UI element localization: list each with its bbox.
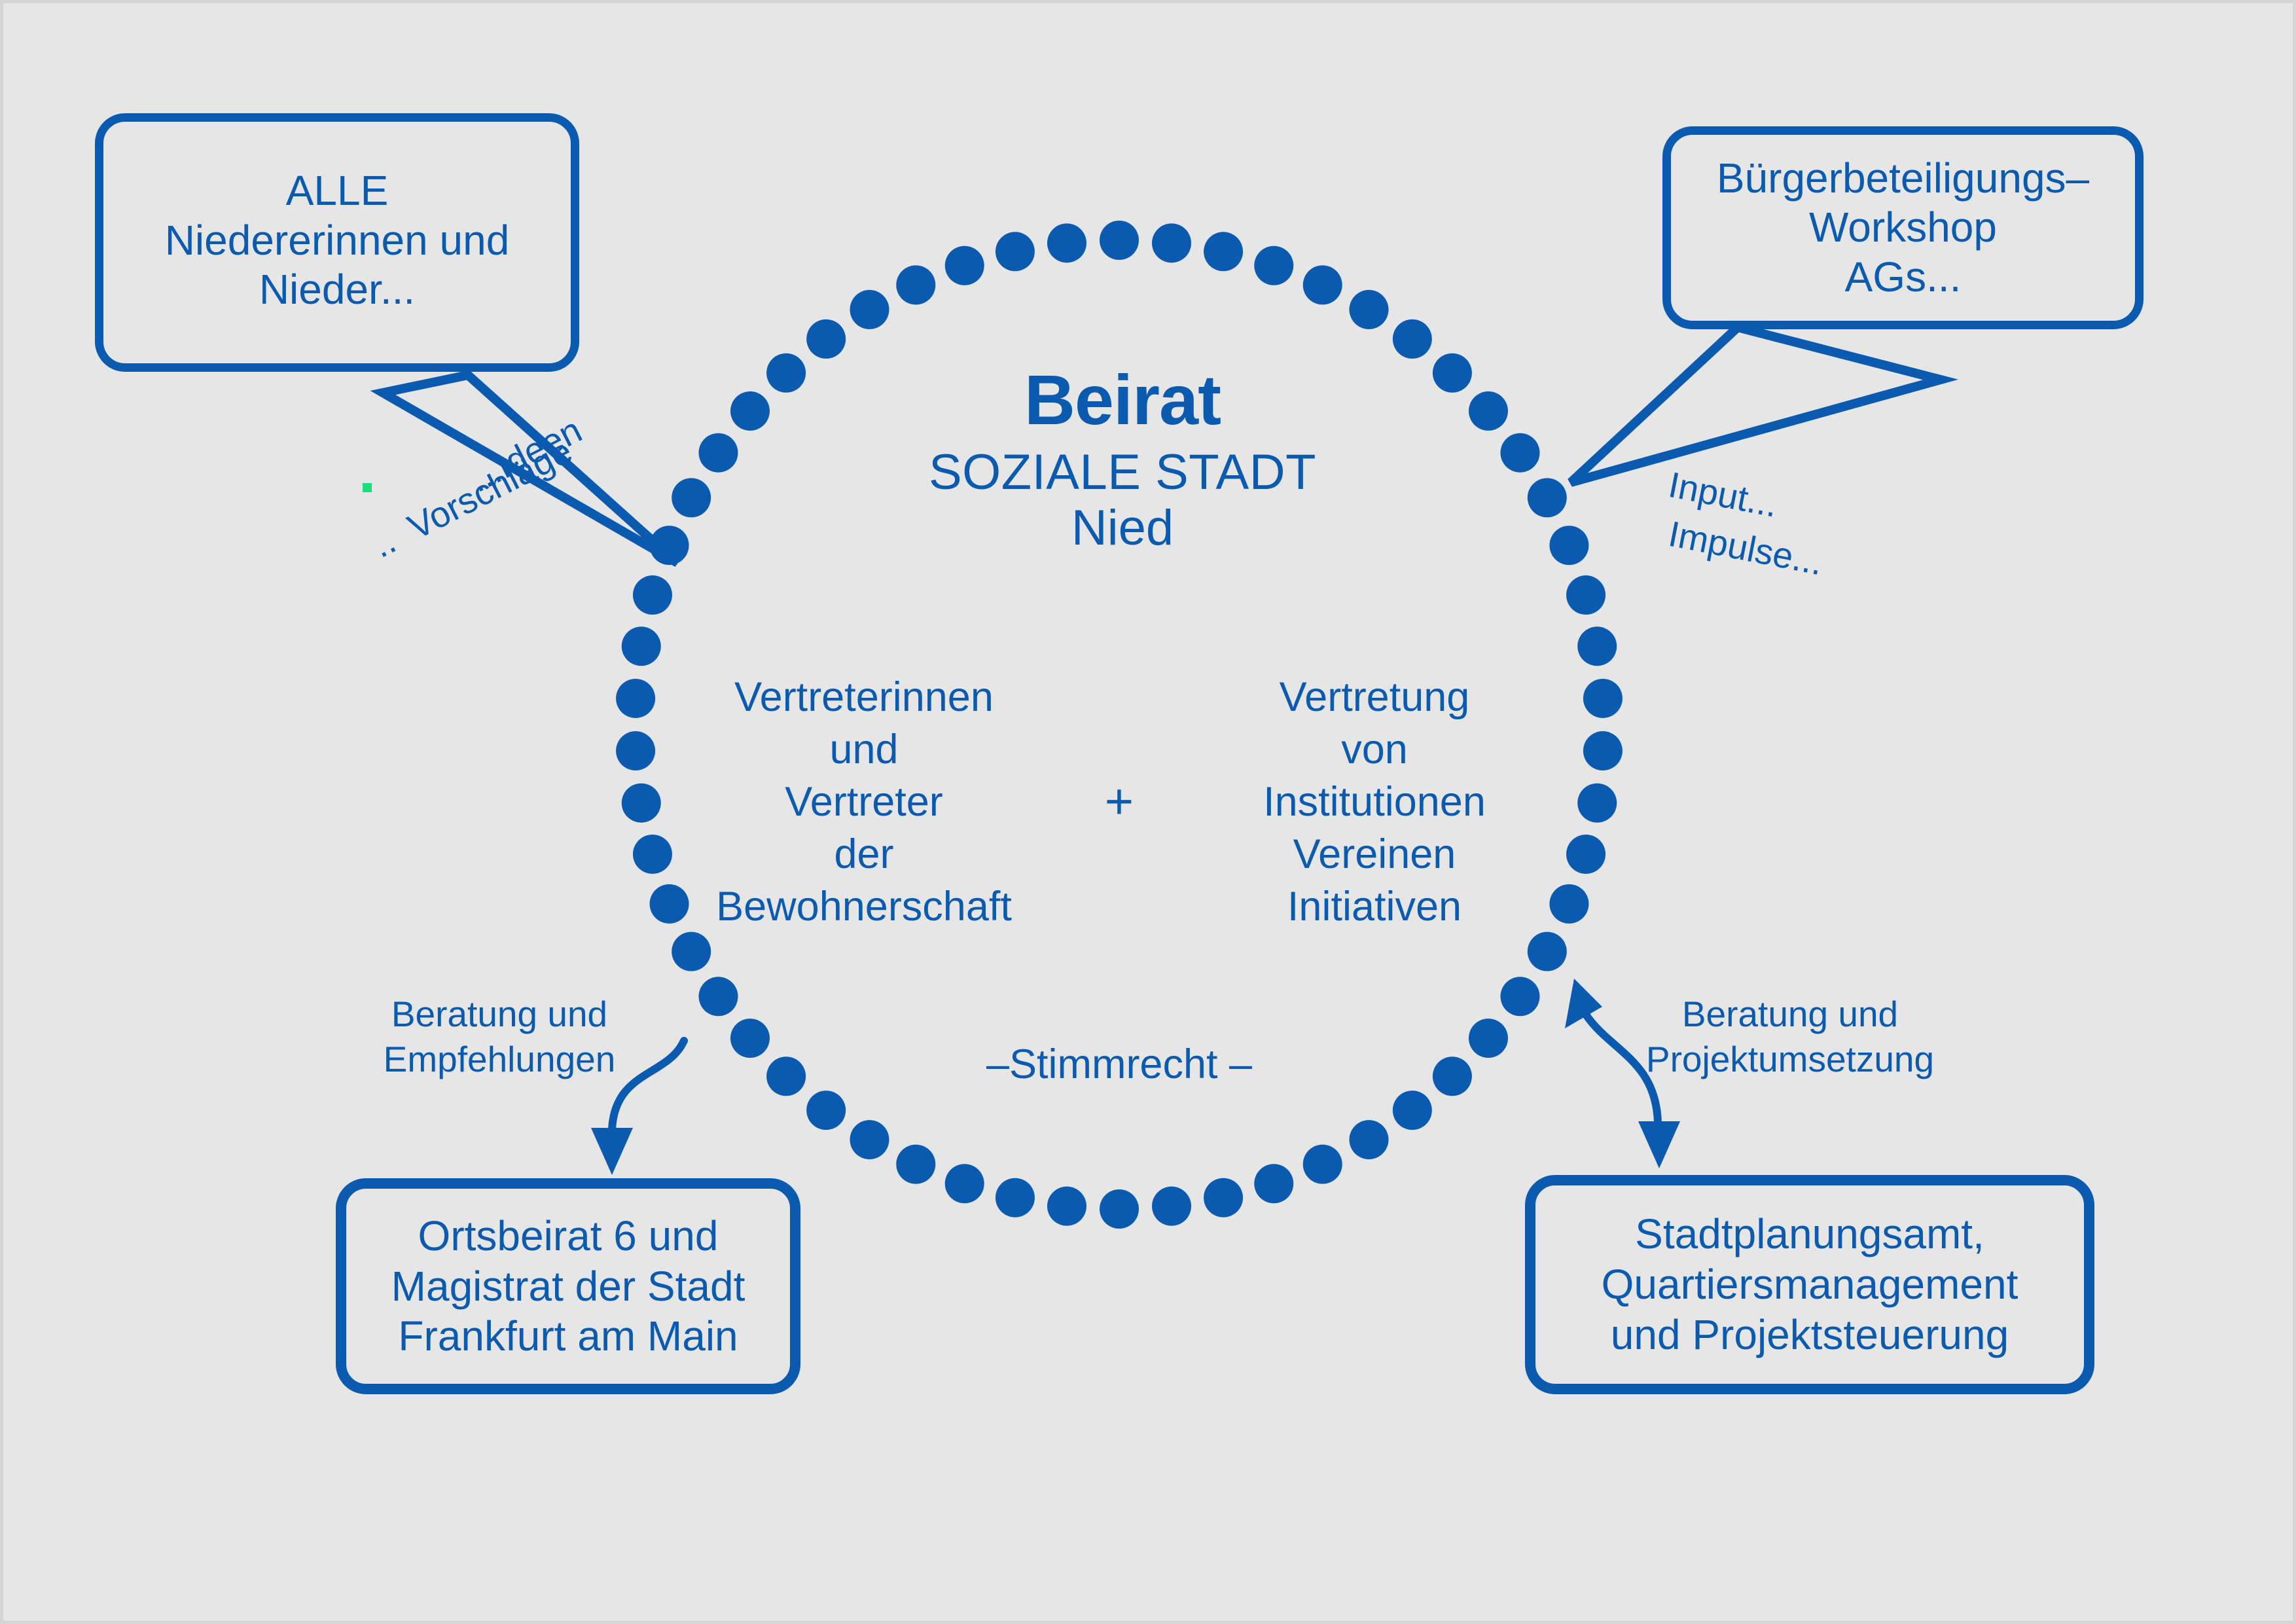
- center-subtitle-line1: SOZIALE STADT: [766, 444, 1479, 500]
- ring-dot: [699, 977, 738, 1016]
- ring-dot: [1583, 679, 1623, 718]
- ring-dot: [996, 232, 1035, 271]
- bubble-right-line3: AGs...: [1717, 253, 2089, 302]
- box-stadtplanungsamt[interactable]: Stadtplanungsamt, Quartiersmanagement un…: [1525, 1175, 2094, 1394]
- label-beratung-projektumsetzung: Beratung und Projektumsetzung: [1633, 992, 1947, 1083]
- label-beratung-empfehlungen-line2: Empfehlungen: [362, 1037, 637, 1082]
- column-residents: Vertreterinnen und Vertreter der Bewohne…: [694, 671, 1034, 933]
- column-residents-line3: Vertreter: [694, 776, 1034, 828]
- ring-dot: [622, 784, 661, 823]
- speech-tail-right: [1571, 327, 1941, 482]
- ring-dot: [1566, 575, 1605, 615]
- ring-dot: [633, 575, 672, 615]
- ring-dot: [622, 626, 661, 666]
- ring-dot: [1583, 731, 1623, 770]
- bubble-left-line3: Nieder...: [165, 265, 510, 315]
- label-vorschlaege: .. Vorschläge: [365, 428, 580, 568]
- ring-dot: [1047, 1187, 1086, 1226]
- ring-dot: [806, 319, 846, 359]
- ring-dot: [1469, 1019, 1508, 1058]
- column-institutions-line2: von: [1204, 723, 1545, 776]
- ring-dot: [730, 391, 770, 431]
- bubble-right-line1: Bürgerbeteiligungs–: [1717, 154, 2089, 204]
- ring-dot: [1549, 884, 1588, 924]
- ring-dot: [806, 1091, 846, 1130]
- label-beratung-projektumsetzung-line2: Projektumsetzung: [1633, 1037, 1947, 1082]
- column-residents-line5: Bewohnerschaft: [694, 880, 1034, 933]
- ring-dot: [616, 731, 655, 770]
- ring-dot: [766, 1056, 806, 1096]
- ring-dot: [1152, 223, 1191, 262]
- box-left-line3: Frankfurt am Main: [391, 1311, 745, 1362]
- ring-dot: [1303, 1145, 1342, 1184]
- arrowhead-down-right: [1638, 1121, 1680, 1168]
- ring-dot: [1433, 1056, 1472, 1096]
- ring-dot: [896, 1145, 935, 1184]
- center-title-group: Beirat SOZIALE STADT Nied: [766, 365, 1479, 556]
- label-beratung-empfehlungen-line1: Beratung und: [362, 992, 637, 1037]
- ring-dot: [1100, 221, 1139, 260]
- page-title: Beirat: [766, 365, 1479, 435]
- box-right-line1: Stadtplanungsamt,: [1602, 1209, 2018, 1259]
- box-ortsbeirat-magistrat[interactable]: Ortsbeirat 6 und Magistrat der Stadt Fra…: [336, 1178, 800, 1394]
- bubble-right-line2: Workshop: [1717, 203, 2089, 253]
- bubble-left-line1: ALLE: [165, 166, 510, 216]
- ring-dot: [633, 835, 672, 874]
- column-residents-line1: Vertreterinnen: [694, 671, 1034, 723]
- plus-operator: +: [1090, 770, 1149, 834]
- ring-dot: [1047, 223, 1086, 262]
- voting-rights-note: –Stimmrecht –: [825, 1041, 1414, 1088]
- ring-dot: [850, 290, 889, 329]
- ring-dot: [650, 526, 689, 565]
- diagram-canvas: ALLE Niedererinnen und Nieder... Bürgerb…: [3, 3, 2293, 1621]
- ring-dot: [1350, 290, 1389, 329]
- speech-bubble-residents[interactable]: ALLE Niedererinnen und Nieder...: [95, 113, 579, 372]
- ring-dot: [945, 1164, 984, 1203]
- box-left-line2: Magistrat der Stadt: [391, 1261, 745, 1312]
- box-right-line2: Quartiersmanagement: [1602, 1259, 2018, 1310]
- ring-dot: [616, 679, 655, 718]
- ring-dot: [1152, 1187, 1191, 1226]
- ring-dot: [699, 433, 738, 473]
- column-institutions-line4: Vereinen: [1204, 828, 1545, 880]
- ring-dot: [1528, 932, 1567, 971]
- ring-dot: [672, 478, 711, 517]
- box-right-line3: und Projektsteuerung: [1602, 1310, 2018, 1360]
- column-institutions-line1: Vertretung: [1204, 671, 1545, 723]
- label-beratung-empfehlungen: Beratung und Empfehlungen: [362, 992, 637, 1083]
- ring-dot: [1577, 626, 1617, 666]
- column-institutions-line5: Initiativen: [1204, 880, 1545, 933]
- label-beratung-projektumsetzung-line1: Beratung und: [1633, 992, 1947, 1037]
- ring-dot: [1549, 526, 1588, 565]
- ring-dot: [1528, 478, 1567, 517]
- ring-dot: [1500, 433, 1539, 473]
- ring-dot: [1204, 1178, 1243, 1218]
- ring-dot: [1303, 265, 1342, 304]
- ring-dot: [896, 265, 935, 304]
- center-subtitle-line2: Nied: [766, 500, 1479, 556]
- ring-dot: [1254, 1164, 1293, 1203]
- column-residents-line2: und: [694, 723, 1034, 776]
- ring-dot: [1393, 1091, 1432, 1130]
- ring-dot: [1350, 1120, 1389, 1159]
- ring-dot: [945, 246, 984, 285]
- ring-dot: [1204, 232, 1243, 271]
- ring-dot: [730, 1019, 770, 1058]
- ring-dot: [996, 1178, 1035, 1218]
- ring-dot: [1254, 246, 1293, 285]
- column-residents-line4: der: [694, 828, 1034, 880]
- ring-dot: [850, 1120, 889, 1159]
- column-institutions: Vertretung von Institutionen Vereinen In…: [1204, 671, 1545, 933]
- box-left-line1: Ortsbeirat 6 und: [391, 1211, 745, 1261]
- ring-dot: [1100, 1189, 1139, 1229]
- column-institutions-line3: Institutionen: [1204, 776, 1545, 828]
- ring-dot: [1566, 835, 1605, 874]
- arrowhead-up-right: [1565, 979, 1602, 1028]
- green-marker-dot: [363, 483, 372, 492]
- ring-dot: [672, 932, 711, 971]
- ring-dot: [650, 884, 689, 924]
- ring-dot: [1577, 784, 1617, 823]
- ring-dot: [1393, 319, 1432, 359]
- center-composition: Vertreterinnen und Vertreter der Bewohne…: [694, 671, 1545, 933]
- speech-bubble-workshop[interactable]: Bürgerbeteiligungs– Workshop AGs...: [1662, 126, 2144, 329]
- arrowhead-down-left: [591, 1128, 633, 1175]
- bubble-left-line2: Niedererinnen und: [165, 216, 510, 266]
- ring-dot: [1500, 977, 1539, 1016]
